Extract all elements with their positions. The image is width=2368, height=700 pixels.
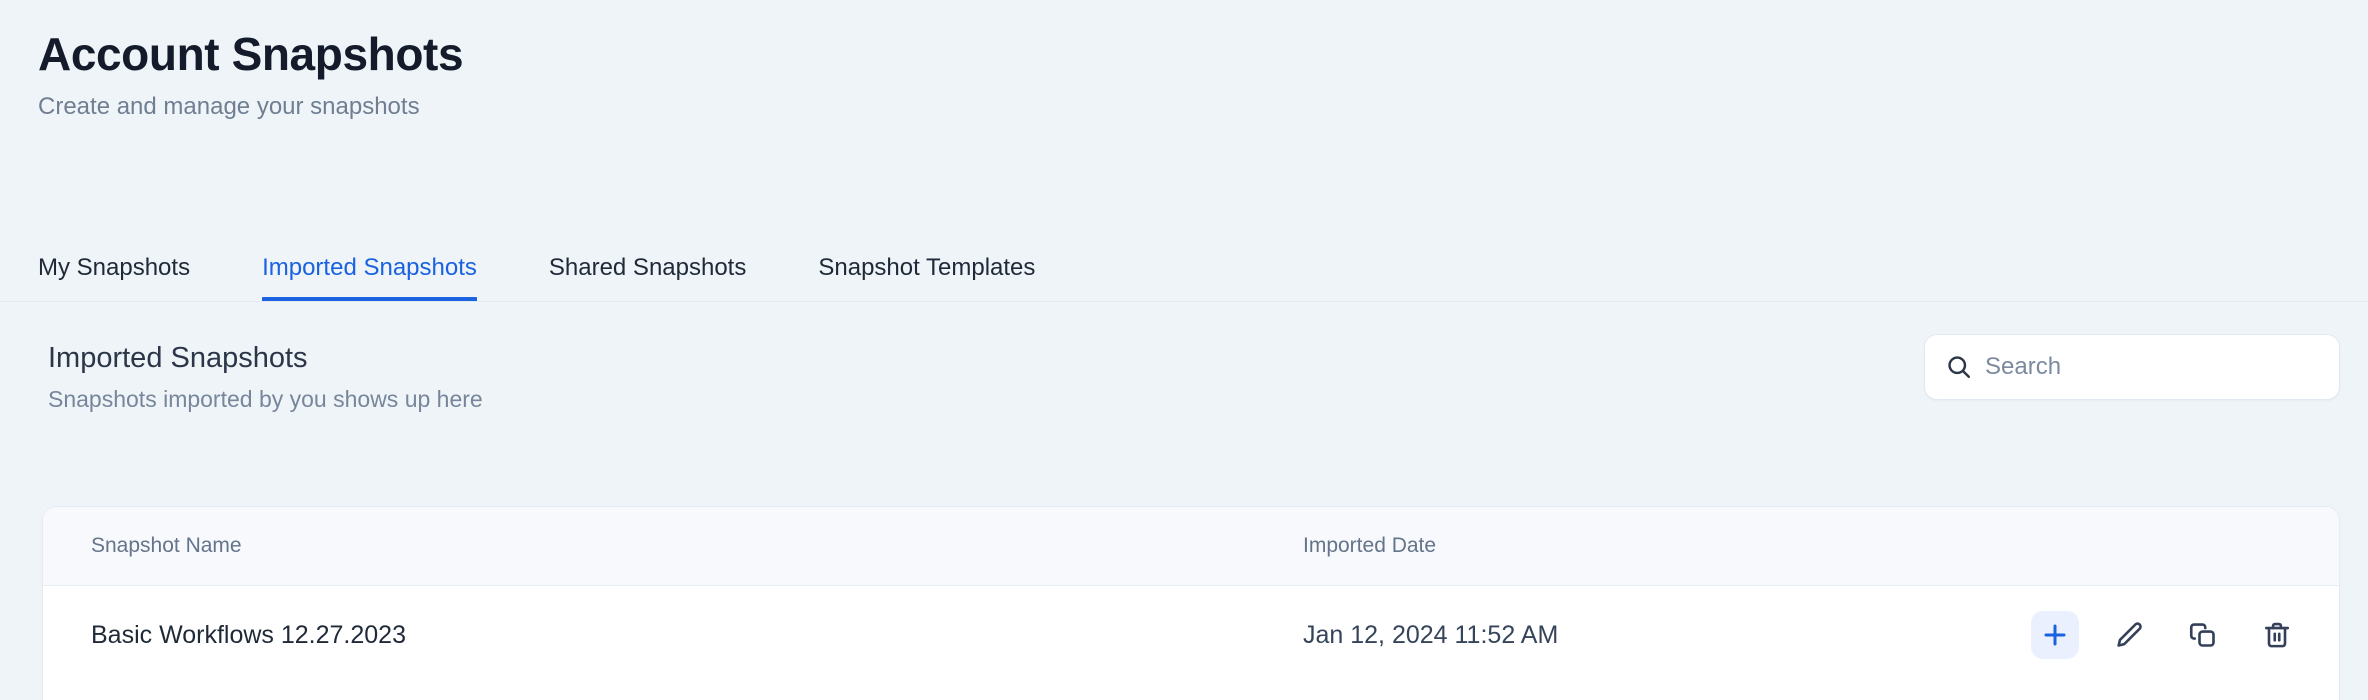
tab-bar: My Snapshots Imported Snapshots Shared S…	[0, 232, 2368, 302]
page-header: Account Snapshots Create and manage your…	[38, 26, 463, 122]
table-row[interactable]: Basic Workflows 12.27.2023 Jan 12, 2024 …	[43, 586, 2339, 684]
column-header-imported-date: Imported Date	[1303, 533, 2003, 559]
tab-shared-snapshots[interactable]: Shared Snapshots	[549, 254, 746, 302]
search-icon	[1945, 353, 1973, 381]
section-title: Imported Snapshots	[48, 340, 483, 376]
section-header: Imported Snapshots Snapshots imported by…	[48, 340, 483, 413]
section-description: Snapshots imported by you shows up here	[48, 385, 483, 413]
search-input[interactable]	[1985, 335, 2319, 399]
tab-bar-divider	[0, 301, 2368, 302]
table-header-row: Snapshot Name Imported Date	[43, 507, 2339, 586]
tab-my-snapshots[interactable]: My Snapshots	[38, 254, 190, 302]
cell-snapshot-name: Basic Workflows 12.27.2023	[43, 620, 1303, 650]
trash-icon	[2262, 620, 2292, 650]
cell-imported-date: Jan 12, 2024 11:52 AM	[1303, 620, 2003, 650]
copy-icon	[2188, 620, 2218, 650]
column-header-snapshot-name: Snapshot Name	[43, 533, 1303, 559]
search-box[interactable]	[1924, 334, 2340, 400]
duplicate-snapshot-button[interactable]	[2179, 611, 2227, 659]
page-title: Account Snapshots	[38, 26, 463, 82]
pencil-icon	[2114, 620, 2144, 650]
account-snapshots-page: Account Snapshots Create and manage your…	[0, 0, 2368, 700]
page-subtitle: Create and manage your snapshots	[38, 92, 463, 122]
snapshots-table-card: Snapshot Name Imported Date Basic Workfl…	[42, 506, 2340, 700]
add-snapshot-button[interactable]	[2031, 611, 2079, 659]
tab-imported-snapshots[interactable]: Imported Snapshots	[262, 254, 477, 302]
tab-list: My Snapshots Imported Snapshots Shared S…	[38, 232, 1035, 302]
edit-snapshot-button[interactable]	[2105, 611, 2153, 659]
tab-snapshot-templates[interactable]: Snapshot Templates	[818, 254, 1035, 302]
delete-snapshot-button[interactable]	[2253, 611, 2301, 659]
plus-icon	[2040, 620, 2070, 650]
cell-row-actions	[2003, 611, 2339, 659]
